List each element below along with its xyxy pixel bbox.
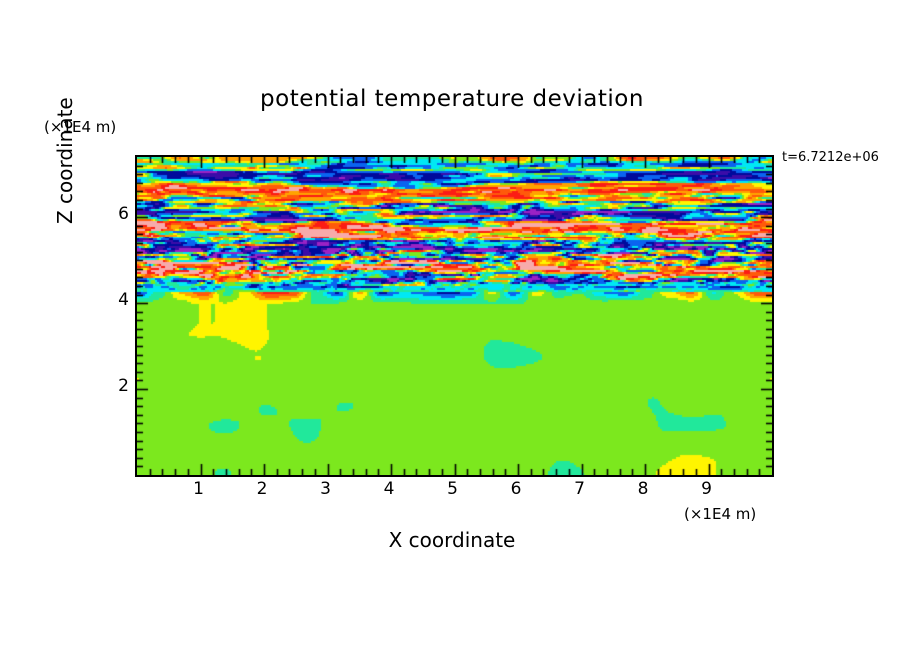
x-tick-label: 7 — [565, 479, 595, 499]
x-tick-label: 9 — [692, 479, 722, 499]
y-axis-title: Z coordinate — [53, 97, 77, 224]
x-tick-label: 5 — [438, 479, 468, 499]
figure-root: potential temperature deviation (×1E4 m)… — [0, 0, 904, 654]
x-tick-label: 1 — [184, 479, 214, 499]
x-tick-label: 4 — [374, 479, 404, 499]
x-tick-label: 8 — [628, 479, 658, 499]
y-tick-label: 2 — [99, 376, 129, 396]
x-axis-title: X coordinate — [0, 528, 904, 552]
y-tick-label: 6 — [99, 204, 129, 224]
page-title: potential temperature deviation — [0, 86, 904, 112]
x-tick-label: 6 — [501, 479, 531, 499]
contour-plot-area — [135, 155, 774, 477]
y-tick-label: 4 — [99, 290, 129, 310]
time-annotation: t=6.7212e+06 — [782, 150, 879, 165]
x-axis-unit-label: (×1E4 m) — [684, 505, 756, 523]
contour-field-canvas — [137, 157, 772, 475]
x-tick-label: 2 — [247, 479, 277, 499]
colorbar — [781, 188, 807, 524]
x-tick-label: 3 — [311, 479, 341, 499]
colorbar-canvas — [781, 188, 807, 524]
